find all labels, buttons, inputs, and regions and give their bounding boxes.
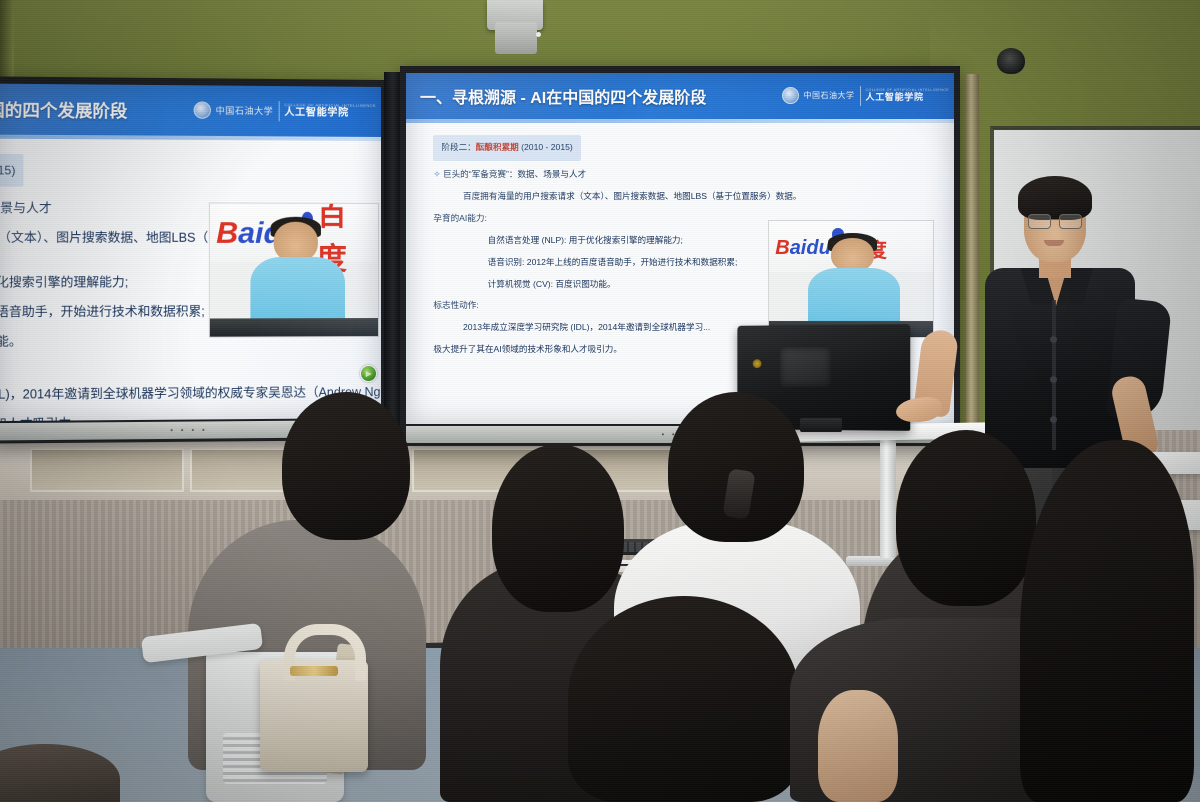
eyeglasses-icon [1028, 214, 1082, 227]
left-college-block: COLLEGE OF ARTIFICIAL INTELLIGENCE 人工智能学… [284, 104, 376, 119]
lecture-hall-photo: 国的四个发展阶段 中国石油大学 COLLEGE OF ARTIFICIAL IN… [0, 0, 1200, 802]
left-display-panel[interactable]: 国的四个发展阶段 中国石油大学 COLLEGE OF ARTIFICIAL IN… [0, 76, 387, 443]
student-head [668, 392, 804, 542]
college-name-cn: 人工智能学院 [866, 93, 950, 102]
left-screen-surface: 国的四个发展阶段 中国石油大学 COLLEGE OF ARTIFICIAL IN… [0, 84, 381, 422]
slide-logo: 中国石油大学 COLLEGE OF ARTIFICIAL INTELLIGENC… [782, 86, 950, 106]
left-slide-header: 国的四个发展阶段 中国石油大学 COLLEGE OF ARTIFICIAL IN… [0, 84, 381, 137]
left-join-badge: ▶ [360, 365, 377, 382]
camera-lens-icon [997, 48, 1025, 74]
left-university-name: 中国石油大学 [216, 104, 274, 118]
monitor-vesa-mount [780, 347, 831, 387]
slide-line: 百度拥有海量的用户搜索请求（文本）、图片搜索数据、地图LBS（基于位置服务）数据… [433, 186, 926, 208]
baidu-b: B [216, 217, 238, 251]
baidu-press-photo: B aidu 百度 [768, 220, 934, 338]
stage-tag: 阶段二：酝酿积累期 (2010 - 2015) [433, 135, 580, 161]
credenza-cubby [30, 448, 184, 492]
monitor-stand [800, 418, 842, 432]
left-slide-logo: 中国石油大学 COLLEGE OF ARTIFICIAL INTELLIGENC… [193, 100, 376, 121]
student-head [568, 596, 800, 802]
logo-divider [860, 86, 861, 106]
baidu-aidu: aidu [790, 237, 831, 260]
camera-led-icon [536, 32, 541, 37]
left-slide: 国的四个发展阶段 中国石油大学 COLLEGE OF ARTIFICIAL IN… [0, 84, 381, 422]
lens-left [1028, 214, 1051, 229]
slide-line-text: 巨头的“军备竞赛”：数据、场景与人才 [443, 169, 586, 179]
university-seal-icon [193, 102, 210, 119]
student-hand [818, 690, 898, 802]
presenter-shirt-button [1050, 336, 1057, 343]
stage-tag-years: (2010 - 2015) [521, 142, 573, 152]
college-block: COLLEGE OF ARTIFICIAL INTELLIGENCE 人工智能学… [866, 89, 950, 102]
panel-indicator-dots: ▪ ▪ ▪ ▪ [170, 426, 207, 433]
left-slide-title: 国的四个发展阶段 [0, 96, 127, 122]
student-head [492, 444, 624, 612]
monitor-port-icon [753, 359, 762, 368]
presenter-shirt-placket [1052, 300, 1056, 450]
slide-header: 一、寻根溯源 - AI在中国的四个发展阶段 中国石油大学 COLLEGE OF … [406, 73, 954, 119]
left-stage-tag: 15) [0, 154, 24, 187]
handbag-clasp-icon [290, 666, 338, 676]
student-head [896, 430, 1036, 606]
presenter-shirt-button [1050, 376, 1057, 383]
baidu-press-photo: B aidu 百度 [208, 202, 379, 338]
left-college-cn: 人工智能学院 [284, 108, 376, 119]
ceiling-camera [495, 22, 537, 54]
lens-right [1059, 214, 1082, 229]
stage-tag-name: 酝酿积累期 [476, 142, 519, 152]
presenter-shirt-button [1050, 416, 1057, 423]
photo-desk [209, 318, 378, 337]
slide-title: 一、寻根溯源 - AI在中国的四个发展阶段 [406, 84, 706, 108]
baidu-b: B [775, 237, 789, 260]
play-circle-icon[interactable]: ▶ [360, 365, 377, 382]
slide-line: ✧ 巨头的“军备竞赛”：数据、场景与人才 [433, 164, 926, 186]
logo-divider [278, 101, 279, 121]
university-seal-icon [782, 87, 799, 104]
presenter-mouth [1044, 240, 1064, 246]
podium-column [880, 438, 896, 558]
white-handbag [260, 660, 368, 772]
university-name: 中国石油大学 [804, 90, 855, 101]
student-head [282, 392, 410, 540]
stage-tag-prefix: 阶段二： [441, 142, 475, 152]
whiteboard-frame-edge [966, 74, 979, 464]
diamond-bullet-icon: ✧ [433, 169, 440, 179]
